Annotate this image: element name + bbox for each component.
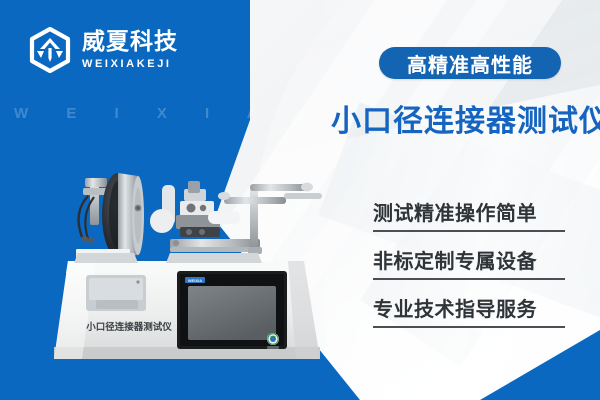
feature-list: 测试精准操作简单 非标定制专属设备 专业技术指导服务: [373, 198, 569, 342]
list-item: 非标定制专属设备: [373, 246, 569, 280]
list-item: 专业技术指导服务: [373, 294, 569, 328]
brand-logo-text: 威夏科技 WEIXIAKEJI: [82, 31, 178, 70]
feature-label: 非标定制专属设备: [373, 246, 569, 276]
page-title: 小口径连接器测试仪: [331, 96, 600, 140]
highlight-badge-label: 高精准高性能: [407, 49, 533, 78]
hexagon-shield-icon: [28, 27, 72, 73]
highlight-badge: 高精准高性能: [379, 47, 561, 79]
feature-label: 专业技术指导服务: [373, 294, 569, 324]
svg-text:WEIXIA: WEIXIA: [188, 278, 202, 283]
product-banner: W E I X I A K E 威夏科技 WEIXIAKEJI 高精准高性能 小…: [0, 0, 600, 400]
feature-divider: [373, 326, 565, 328]
brand-name-cn: 威夏科技: [82, 31, 178, 54]
product-panel-label: 小口径连接器测试仪: [85, 321, 172, 333]
brand-name-en: WEIXIAKEJI: [82, 59, 178, 70]
feature-divider: [373, 230, 565, 232]
brand-logo: 威夏科技 WEIXIAKEJI: [28, 27, 178, 73]
list-item: 测试精准操作简单: [373, 198, 569, 232]
feature-divider: [373, 278, 565, 280]
product-photo: 小口径连接器测试仪 WEIXIA: [52, 163, 322, 378]
feature-label: 测试精准操作简单: [373, 198, 569, 228]
watermark-text: W E I X I A K E: [14, 105, 371, 122]
